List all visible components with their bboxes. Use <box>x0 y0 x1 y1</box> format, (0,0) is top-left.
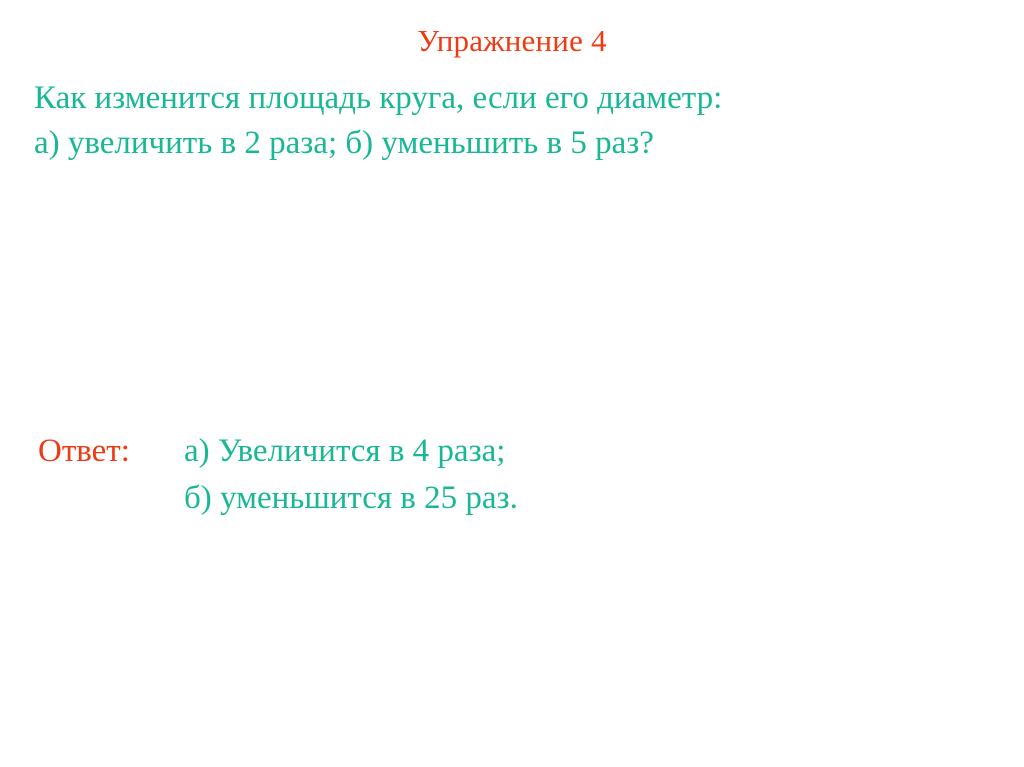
answer-item-a: а) Увеличится в 4 раза; <box>184 428 505 475</box>
answer-row: Ответ: а) Увеличится в 4 раза; <box>38 428 998 475</box>
blank-work-area <box>0 180 1024 420</box>
question-line-1: Как изменится площадь круга, если его ди… <box>34 76 994 121</box>
answer-label: Ответ: <box>38 428 184 475</box>
slide-canvas: Упражнение 4 Как изменится площадь круга… <box>0 0 1024 767</box>
question-block: Как изменится площадь круга, если его ди… <box>34 76 994 166</box>
answer-row: Ответ: б) уменьшится в 25 раз. <box>38 475 998 522</box>
page-title: Упражнение 4 <box>0 22 1024 60</box>
answer-item-b: б) уменьшится в 25 раз. <box>184 475 518 522</box>
question-line-2: а) увеличить в 2 раза; б) уменьшить в 5 … <box>34 121 994 166</box>
answer-block: Ответ: а) Увеличится в 4 раза; Ответ: б)… <box>38 428 998 522</box>
